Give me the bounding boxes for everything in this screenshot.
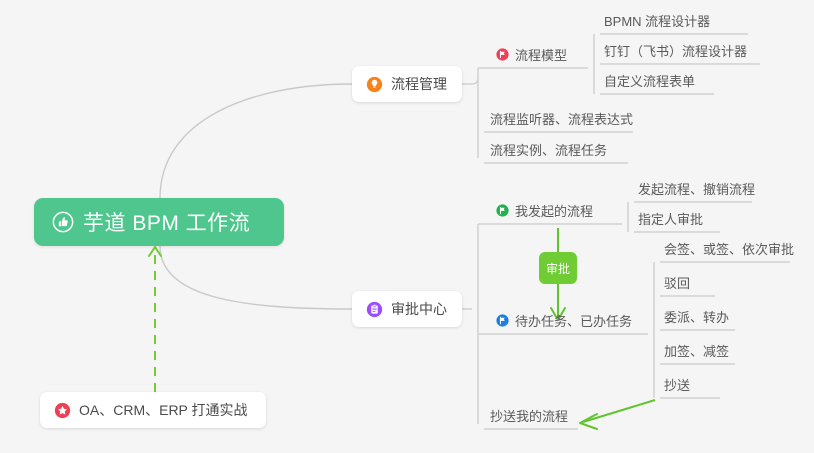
link-my-started-process-spine (614, 202, 628, 232)
branch-label-approval-center: 审批中心 (391, 299, 447, 319)
leaf-label-assignee-approval: 指定人审批 (638, 209, 703, 228)
leaf-node-my-started-process[interactable]: 我发起的流程 (492, 197, 599, 224)
flag-icon-green (496, 204, 509, 217)
annotation-card-integration[interactable]: OA、CRM、ERP 打通实战 (40, 392, 266, 428)
root-node[interactable]: 芋道 BPM 工作流 (34, 198, 284, 246)
leaf-node-todo-done-task[interactable]: 待办任务、已办任务 (492, 307, 638, 334)
branch-label-process-management: 流程管理 (391, 74, 447, 94)
leaf-label-my-started-process: 我发起的流程 (515, 201, 593, 220)
leaf-label-countersign: 会签、或签、依次审批 (664, 239, 794, 258)
leaf-label-process-instance: 流程实例、流程任务 (490, 140, 607, 159)
leaf-label-add-remove-sign: 加签、减签 (664, 341, 729, 360)
leaf-label-todo-done-task: 待办任务、已办任务 (515, 311, 632, 330)
link-process-management-branch-corners (472, 78, 478, 158)
root-label: 芋道 BPM 工作流 (83, 207, 250, 237)
leaf-label-cc: 抄送 (664, 375, 690, 394)
leaf-label-custom-form: 自定义流程表单 (604, 71, 695, 90)
leaf-node-process-instance[interactable]: 流程实例、流程任务 (486, 136, 613, 163)
leaf-label-start-cancel-process: 发起流程、撤销流程 (638, 179, 755, 198)
leaf-node-delegate-transfer[interactable]: 委派、转办 (660, 303, 735, 330)
leaf-label-cc-my-process: 抄送我的流程 (490, 406, 568, 425)
link-root-to-approval-center (160, 246, 352, 309)
leaf-label-dingtalk-designer: 钉钉（飞书）流程设计器 (604, 41, 747, 60)
branch-node-approval-center[interactable]: 审批中心 (352, 291, 462, 327)
annotation-badge-approval[interactable]: 审批 (539, 252, 577, 284)
star-icon (54, 402, 71, 419)
clipboard-icon (366, 301, 383, 318)
leaf-label-process-model: 流程模型 (515, 45, 567, 64)
leaf-node-dingtalk-designer[interactable]: 钉钉（飞书）流程设计器 (600, 37, 753, 64)
leaf-node-assignee-approval[interactable]: 指定人审批 (634, 205, 709, 232)
link-process-model-spine (578, 34, 594, 94)
flag-icon-blue (496, 314, 509, 327)
link-process-management-spine (462, 68, 478, 158)
leaf-label-process-listener: 流程监听器、流程表达式 (490, 109, 633, 128)
annotation-badge-approval-label: 审批 (546, 260, 570, 277)
annotation-arrowhead-to-root (149, 247, 161, 256)
flag-icon-red (496, 48, 509, 61)
lightbulb-pin-icon (366, 76, 383, 93)
leaf-node-custom-form[interactable]: 自定义流程表单 (600, 67, 701, 94)
link-todo-done-task-spine (640, 262, 654, 398)
leaf-node-cc[interactable]: 抄送 (660, 371, 696, 398)
leaf-node-start-cancel-process[interactable]: 发起流程、撤销流程 (634, 175, 761, 202)
link-approval-center-spine (462, 224, 478, 424)
leaf-node-add-remove-sign[interactable]: 加签、减签 (660, 337, 735, 364)
leaf-node-cc-my-process[interactable]: 抄送我的流程 (486, 402, 574, 429)
annotation-card-integration-label: OA、CRM、ERP 打通实战 (79, 400, 248, 420)
annotation-arrow-cc-line (583, 400, 655, 422)
link-root-to-process-management (160, 84, 352, 198)
annotation-arrow-cc-head (580, 414, 597, 429)
leaf-label-reject: 驳回 (664, 273, 690, 292)
leaf-label-bpmn-designer: BPMN 流程设计器 (604, 11, 710, 30)
leaf-node-reject[interactable]: 驳回 (660, 269, 696, 296)
leaf-node-bpmn-designer[interactable]: BPMN 流程设计器 (600, 7, 716, 34)
branch-node-process-management[interactable]: 流程管理 (352, 66, 462, 102)
leaf-node-countersign[interactable]: 会签、或签、依次审批 (660, 235, 800, 262)
thumbs-up-icon (52, 211, 74, 233)
leaf-node-process-model[interactable]: 流程模型 (492, 41, 573, 68)
leaf-label-delegate-transfer: 委派、转办 (664, 307, 729, 326)
leaf-node-process-listener[interactable]: 流程监听器、流程表达式 (486, 105, 639, 132)
mindmap-canvas: 芋道 BPM 工作流 流程管理 流程模型 BPMN 流程设计器 钉钉（飞书）流程… (0, 0, 814, 453)
